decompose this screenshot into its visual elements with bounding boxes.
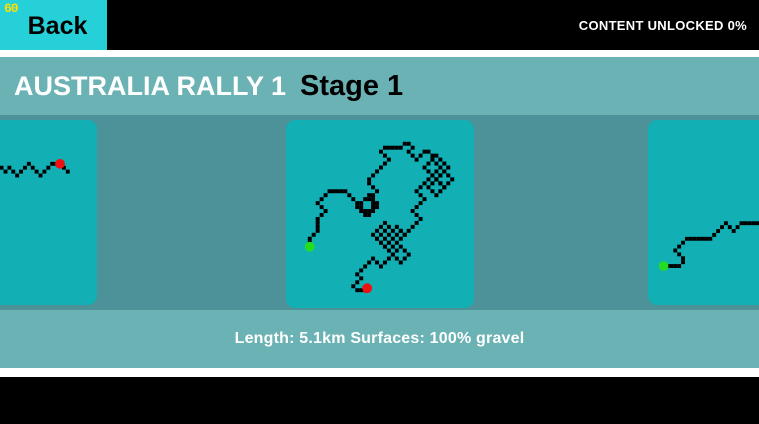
game-screen: Back 60 CONTENT UNLOCKED 0% AUSTRALIA RA… [0,0,759,424]
back-button-label: Back [28,14,88,39]
track-map-previous [0,120,97,305]
stage-info-bar: Length: 5.1km Surfaces: 100% gravel [0,310,759,368]
stage-thumbnail-next[interactable] [648,120,759,305]
divider-top [0,50,759,57]
stage-thumbnail-current[interactable] [286,120,474,308]
stage-header: AUSTRALIA RALLY 1 Stage 1 [0,57,759,115]
top-bar: Back 60 CONTENT UNLOCKED 0% [0,0,759,50]
fps-counter: 60 [4,2,18,15]
rally-title: AUSTRALIA RALLY 1 [14,71,286,102]
divider-bottom [0,368,759,377]
stage-title: Stage 1 [300,70,403,103]
content-unlocked-status: CONTENT UNLOCKED 0% [579,0,747,50]
track-map-next [648,120,759,305]
stage-info-text: Length: 5.1km Surfaces: 100% gravel [235,330,525,348]
stage-thumbnail-previous[interactable] [0,120,97,305]
track-map-current [286,120,474,308]
bottom-letterbox [0,377,759,424]
stage-carousel[interactable] [0,115,759,310]
